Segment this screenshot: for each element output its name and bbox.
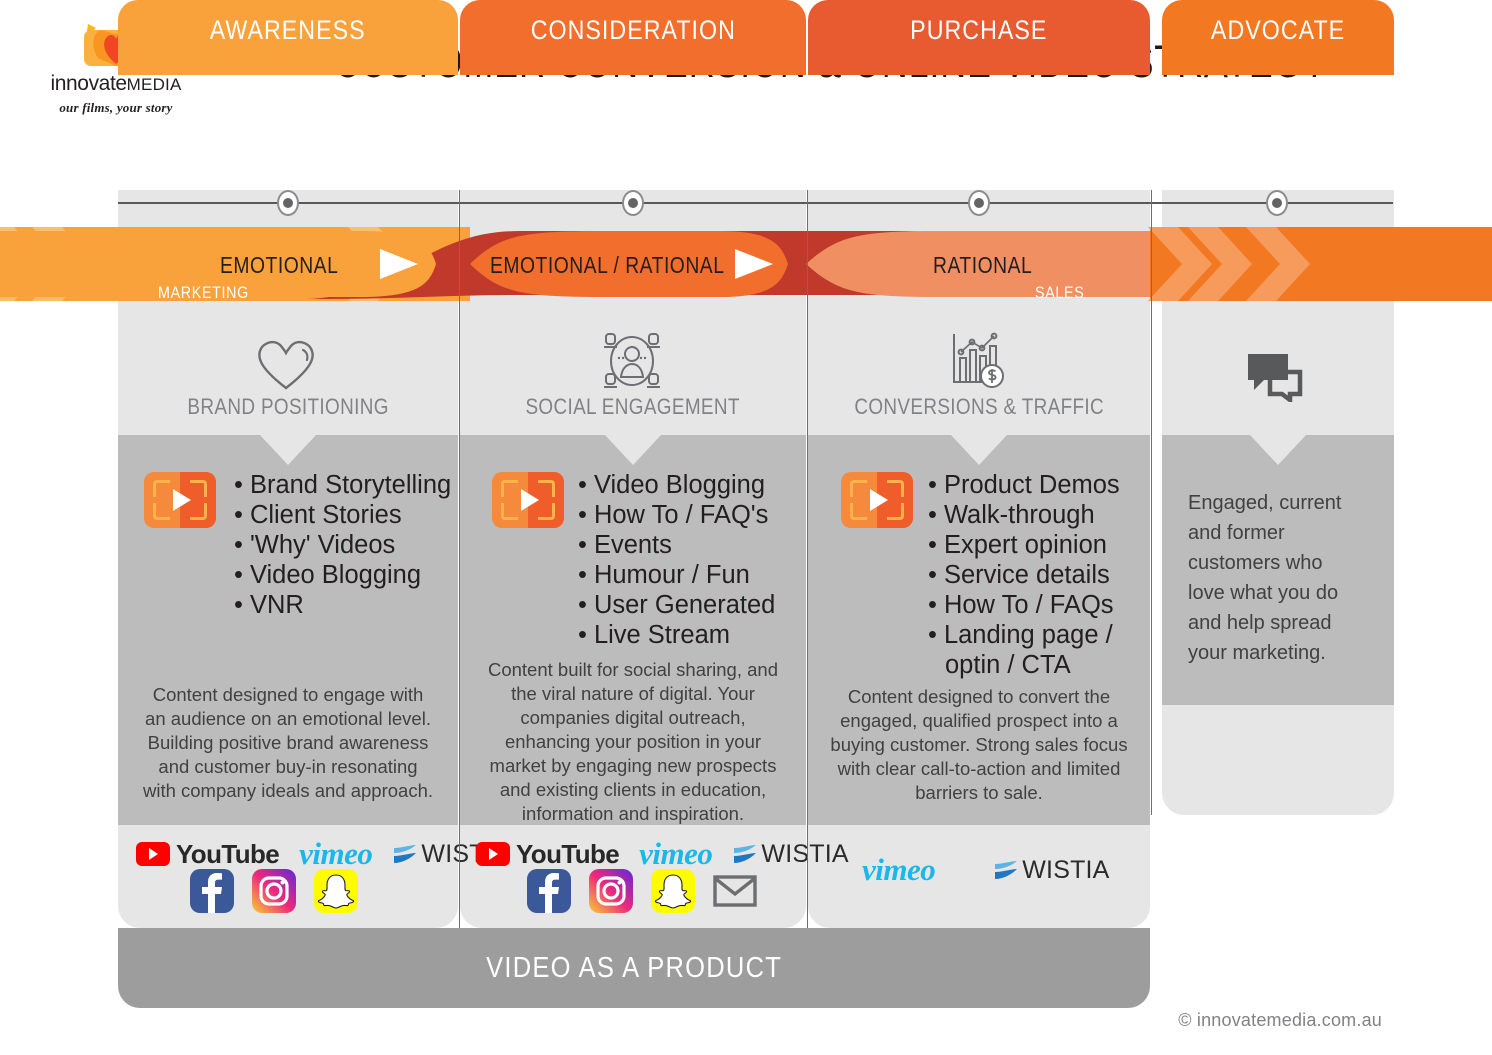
timeline-dot-advocate[interactable] bbox=[1266, 190, 1288, 216]
infographic-canvas: innovateMEDIA our films, your story CUST… bbox=[0, 0, 1492, 1055]
instagram-camera-icon bbox=[252, 869, 296, 913]
notch-advocate bbox=[1250, 435, 1306, 465]
platform-row-awareness-2 bbox=[190, 869, 358, 913]
band-sub-marketing: MARKETING bbox=[158, 283, 266, 303]
list-item: How To / FAQs bbox=[928, 590, 1120, 620]
facebook-logo[interactable] bbox=[190, 869, 234, 913]
bottom-bar-label: VIDEO AS A PRODUCT bbox=[118, 928, 1150, 1008]
list-item: Humour / Fun bbox=[578, 560, 775, 590]
youtube-label: YouTube bbox=[516, 839, 619, 870]
platform-row-purchase-1: vimeo WISTIA bbox=[862, 852, 1110, 888]
notch-awareness bbox=[260, 435, 316, 465]
column-divider-3 bbox=[1151, 190, 1152, 815]
speech-bubbles-icon bbox=[1244, 350, 1306, 402]
email-logo[interactable] bbox=[713, 875, 757, 907]
facebook-f-icon bbox=[527, 869, 571, 913]
stage-header-purchase[interactable]: PURCHASE bbox=[808, 0, 1150, 75]
vimeo-logo[interactable]: vimeo bbox=[299, 836, 372, 872]
stage-header-consideration[interactable]: CONSIDERATION bbox=[460, 0, 806, 75]
list-item: 'Why' Videos bbox=[234, 530, 451, 560]
list-item: Events bbox=[578, 530, 775, 560]
snapchat-logo[interactable] bbox=[314, 869, 358, 913]
stage-header-advocate[interactable]: ADVOCATE bbox=[1162, 0, 1394, 75]
wistia-logo[interactable]: WISTIA bbox=[732, 840, 848, 869]
emotion-rational-band: EMOTIONAL MARKETING EMOTIONAL / RATIONAL… bbox=[0, 225, 1492, 303]
footer-credit: © innovatemedia.com.au bbox=[1178, 1010, 1382, 1031]
column-divider-1 bbox=[459, 190, 460, 928]
instagram-logo[interactable] bbox=[252, 869, 296, 913]
wistia-logo[interactable]: WISTIA bbox=[993, 856, 1109, 885]
chart-money-icon bbox=[948, 330, 1010, 392]
wistia-label: WISTIA bbox=[761, 840, 848, 869]
snapchat-ghost-icon bbox=[314, 869, 358, 913]
video-play-icon-purchase[interactable] bbox=[841, 472, 913, 528]
band-label-purchase: RATIONAL bbox=[933, 252, 1051, 279]
band-label-consideration: EMOTIONAL / RATIONAL bbox=[490, 252, 769, 279]
platform-row-consideration-2 bbox=[527, 869, 757, 913]
instagram-logo[interactable] bbox=[589, 869, 633, 913]
description-advocate: Engaged, current and former customers wh… bbox=[1188, 488, 1364, 668]
notch-consideration bbox=[605, 435, 661, 465]
snapchat-logo[interactable] bbox=[651, 869, 695, 913]
instagram-camera-icon bbox=[589, 869, 633, 913]
list-item: Landing page / bbox=[928, 620, 1120, 650]
youtube-logo[interactable]: YouTube bbox=[476, 839, 619, 870]
bullet-list-awareness: Brand Storytelling Client Stories 'Why' … bbox=[234, 470, 451, 620]
stage-label-advocate: ADVOCATE bbox=[1211, 0, 1345, 60]
platform-row-consideration-1: YouTube vimeo WISTIA bbox=[476, 836, 849, 872]
list-item: Live Stream bbox=[578, 620, 775, 650]
list-item: Video Blogging bbox=[234, 560, 451, 590]
stage-header-awareness[interactable]: AWARENESS bbox=[118, 0, 458, 75]
video-play-icon-consideration[interactable] bbox=[492, 472, 564, 528]
wistia-mark-icon bbox=[392, 844, 418, 865]
stage-label-awareness: AWARENESS bbox=[210, 0, 366, 60]
platform-row-awareness-1: YouTube vimeo WISTIA bbox=[136, 836, 509, 872]
list-item: VNR bbox=[234, 590, 451, 620]
list-item: Video Blogging bbox=[578, 470, 775, 500]
stage-label-consideration: CONSIDERATION bbox=[530, 0, 735, 60]
vimeo-logo[interactable]: vimeo bbox=[862, 852, 935, 888]
list-item: Client Stories bbox=[234, 500, 451, 530]
youtube-logo[interactable]: YouTube bbox=[136, 839, 279, 870]
list-item: How To / FAQ's bbox=[578, 500, 775, 530]
brand-wordmark: innovateMEDIA bbox=[16, 72, 216, 96]
description-awareness: Content designed to engage with an audie… bbox=[140, 683, 436, 803]
description-consideration: Content built for social sharing, and th… bbox=[478, 658, 788, 826]
youtube-play-icon bbox=[476, 842, 510, 866]
column-divider-2 bbox=[807, 190, 808, 928]
focus-label-purchase: CONVERSIONS & TRAFFIC bbox=[808, 394, 1150, 420]
band-sub-sales: SALES bbox=[1035, 283, 1094, 303]
wistia-mark-icon bbox=[732, 844, 758, 865]
list-item: Product Demos bbox=[928, 470, 1120, 500]
focus-label-awareness: BRAND POSITIONING bbox=[118, 394, 458, 420]
youtube-label: YouTube bbox=[176, 839, 279, 870]
brand-name-part1: innovate bbox=[50, 72, 126, 95]
focus-label-consideration: SOCIAL ENGAGEMENT bbox=[460, 394, 806, 420]
video-play-icon-awareness[interactable] bbox=[144, 472, 216, 528]
description-purchase: Content designed to convert the engaged,… bbox=[828, 685, 1130, 805]
stage-label-purchase: PURCHASE bbox=[910, 0, 1047, 60]
brand-name-part2: MEDIA bbox=[127, 75, 182, 94]
list-item: User Generated bbox=[578, 590, 775, 620]
list-item: Expert opinion bbox=[928, 530, 1120, 560]
facebook-f-icon bbox=[190, 869, 234, 913]
list-item: Brand Storytelling bbox=[234, 470, 451, 500]
heart-icon bbox=[254, 336, 318, 392]
timeline-track bbox=[118, 202, 1393, 204]
band-label-awareness: EMOTIONAL bbox=[220, 252, 361, 279]
bullet-list-consideration: Video Blogging How To / FAQ's Events Hum… bbox=[578, 470, 775, 650]
bullet-list-purchase: Product Demos Walk-through Expert opinio… bbox=[928, 470, 1120, 680]
snapchat-ghost-icon bbox=[651, 869, 695, 913]
timeline-dot-consideration[interactable] bbox=[622, 190, 644, 216]
list-item: Walk-through bbox=[928, 500, 1120, 530]
wistia-mark-icon bbox=[993, 860, 1019, 881]
list-item: Service details bbox=[928, 560, 1120, 590]
brand-tagline: our films, your story bbox=[16, 100, 216, 116]
vimeo-logo[interactable]: vimeo bbox=[639, 836, 712, 872]
social-group-icon bbox=[602, 330, 662, 392]
facebook-logo[interactable] bbox=[527, 869, 571, 913]
timeline-dot-awareness[interactable] bbox=[277, 190, 299, 216]
notch-purchase bbox=[951, 435, 1007, 465]
list-item: optin / CTA bbox=[928, 650, 1120, 680]
timeline-dot-purchase[interactable] bbox=[968, 190, 990, 216]
bottom-bar: VIDEO AS A PRODUCT bbox=[118, 928, 1150, 1008]
wistia-label: WISTIA bbox=[1022, 856, 1109, 885]
youtube-play-icon bbox=[136, 842, 170, 866]
